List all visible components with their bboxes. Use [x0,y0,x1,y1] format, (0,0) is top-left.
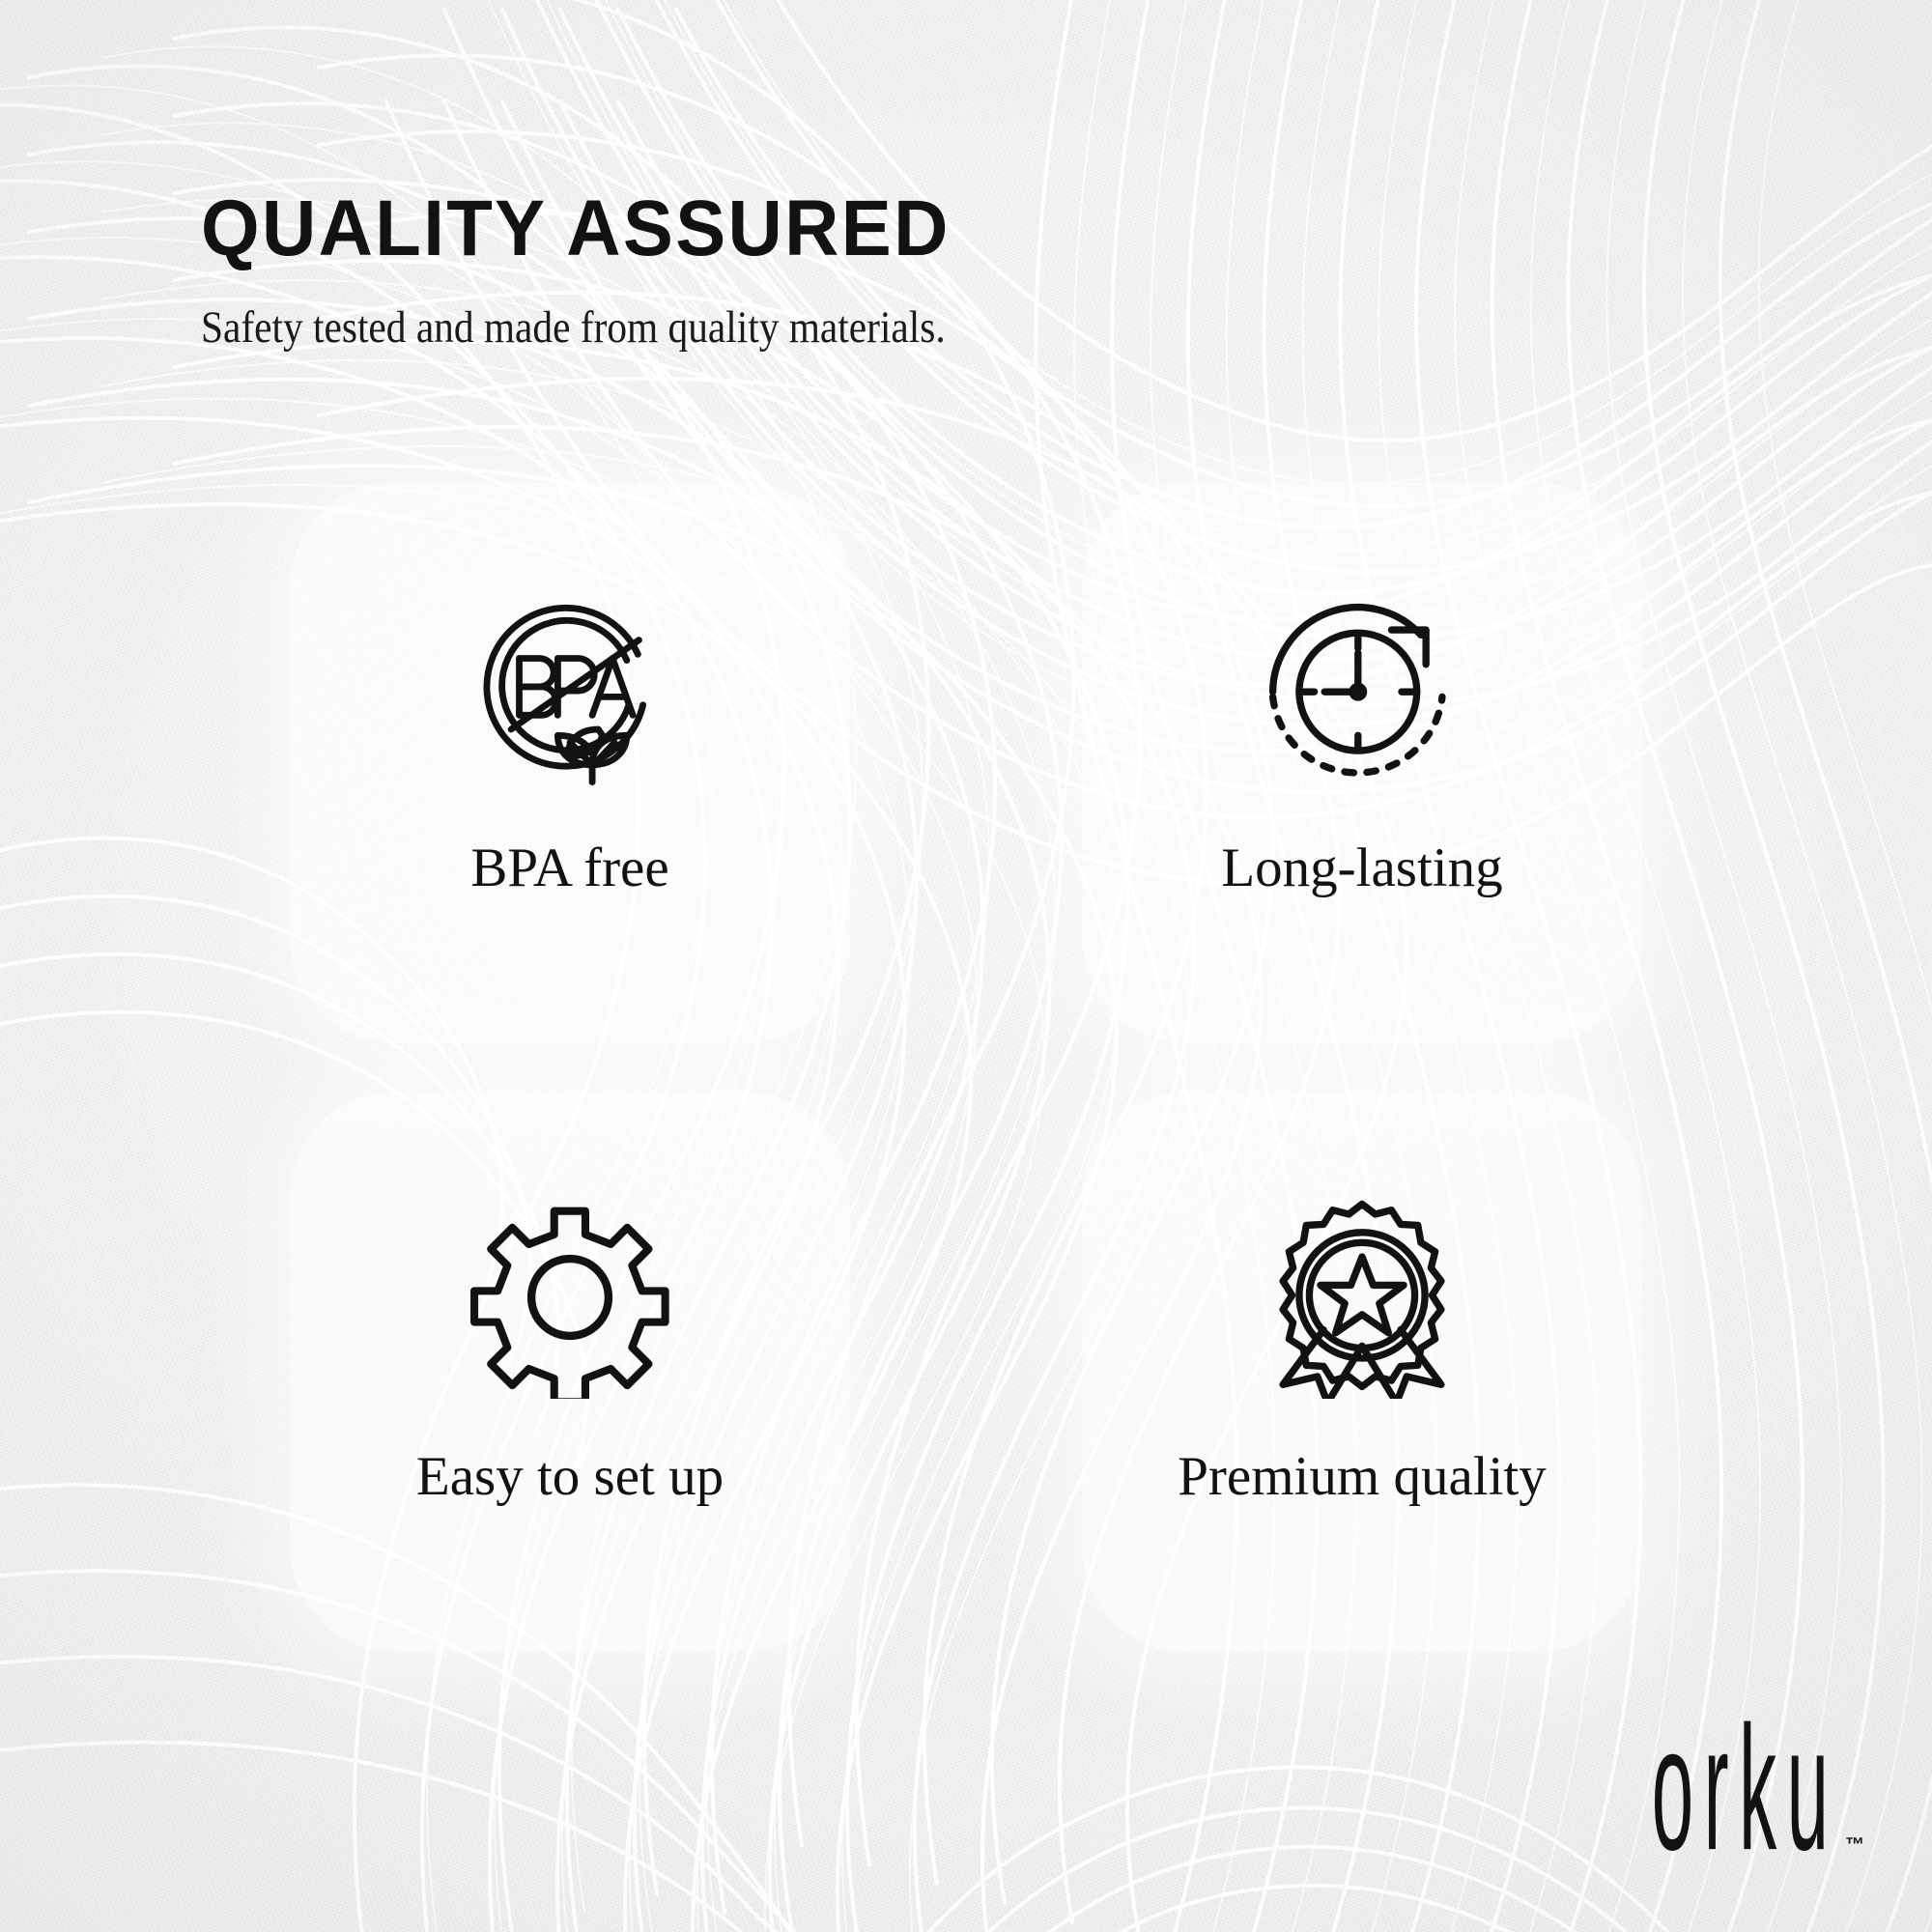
promo-graphic: QUALITY ASSURED Safety tested and made f… [0,0,1932,1932]
page-title: QUALITY ASSURED [201,189,1577,269]
header: QUALITY ASSURED Safety tested and made f… [201,189,1650,351]
feature-card-premium-quality[interactable]: Premium quality [1082,1092,1642,1652]
feature-card-label: Premium quality [1178,1449,1547,1504]
feature-card-grid: BPA free [290,483,1642,1652]
feature-card-long-lasting[interactable]: Long-lasting [1082,483,1642,1043]
feature-card-label: BPA free [470,840,668,895]
feature-card-label: Easy to set up [416,1449,724,1504]
feature-card-easy-to-set-up[interactable]: Easy to set up [290,1092,850,1652]
gear-icon [469,1196,671,1399]
bpa-free-icon [469,587,671,790]
award-rosette-icon [1261,1196,1463,1399]
feature-card-label: Long-lasting [1221,840,1502,895]
trademark-symbol: ™ [1845,1834,1864,1857]
feature-card-bpa-free[interactable]: BPA free [290,483,850,1043]
brand-logo-wordmark: orku [1652,1718,1839,1862]
clock-rotate-icon [1261,587,1463,790]
brand-logo: orku ™ [1555,1769,1864,1862]
page-subtitle: Safety tested and made from quality mate… [201,305,1476,351]
